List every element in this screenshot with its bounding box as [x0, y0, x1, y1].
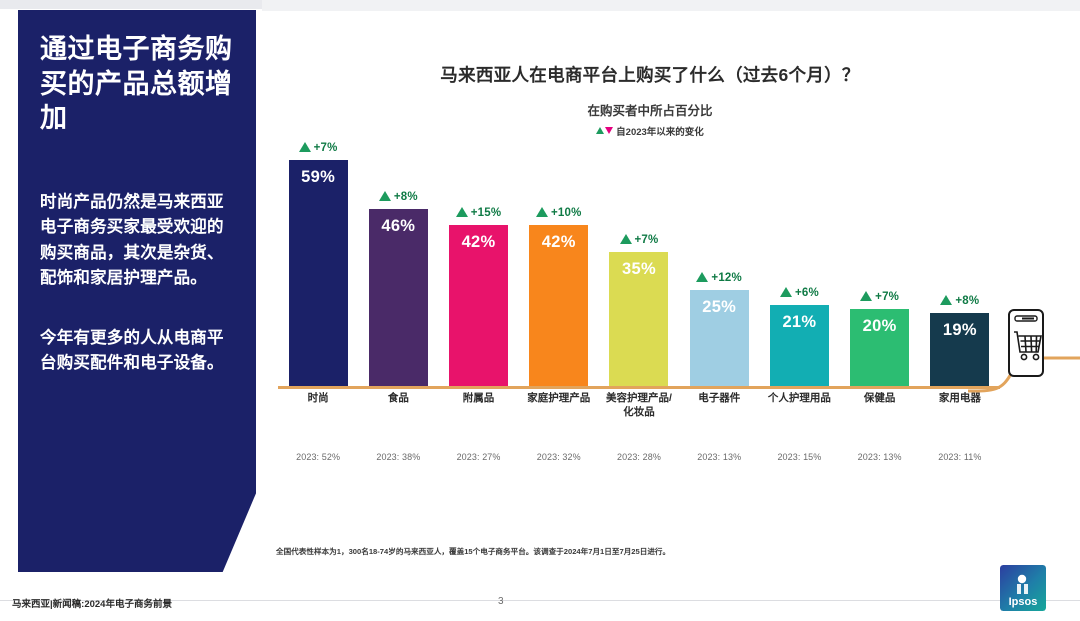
sidebar-title: 通过电子商务购买的产品总额增加	[40, 32, 234, 136]
bar-delta-label: +8%	[379, 191, 418, 203]
chart-footnote: 全国代表性样本为1，300名18-74岁的马来西亚人，覆盖15个电子商务平台。该…	[276, 546, 916, 557]
bar-value-label: 19%	[930, 321, 989, 340]
top-band-right	[262, 0, 1080, 11]
bar-slot[interactable]: +6%21%	[759, 140, 839, 388]
x-axis-label: 电子器件	[679, 392, 759, 419]
prior-year-label: 2023: 28%	[599, 452, 679, 462]
bar-delta-label: +6%	[780, 287, 819, 299]
bar-delta-value: +10%	[551, 207, 582, 219]
prior-year-label: 2023: 15%	[759, 452, 839, 462]
bar-value-label: 20%	[850, 317, 909, 336]
prior-year-label: 2023: 11%	[920, 452, 1000, 462]
sidebar-paragraph-1: 时尚产品仍然是马来西亚电子商务买家最受欢迎的购买商品，其次是杂货、配饰和家居护理…	[40, 190, 234, 292]
chart-legend-label: 自2023年以来的变化	[616, 127, 704, 138]
bar[interactable]: 59%	[289, 160, 348, 386]
triangle-up-icon	[536, 207, 548, 217]
x-axis-label: 时尚	[278, 392, 358, 419]
chart-plot-area: +7%59%+8%46%+15%42%+10%42%+7%35%+12%25%+…	[278, 140, 1000, 388]
x-axis-label: 食品	[358, 392, 438, 419]
bar-value-label: 59%	[289, 168, 348, 187]
triangle-up-icon	[780, 287, 792, 297]
x-axis-label: 家用电器	[920, 392, 1000, 419]
bar[interactable]: 46%	[369, 209, 428, 386]
triangle-up-icon	[940, 295, 952, 305]
prior-year-label: 2023: 52%	[278, 452, 358, 462]
mobile-shopping-icon	[1007, 308, 1045, 378]
ipsos-logo-text: Ipsos	[1009, 596, 1038, 608]
bar-series: +7%59%+8%46%+15%42%+10%42%+7%35%+12%25%+…	[278, 140, 1000, 388]
triangle-up-icon	[596, 127, 604, 134]
bar[interactable]: 42%	[529, 225, 588, 386]
bar[interactable]: 25%	[690, 290, 749, 386]
bar-value-label: 42%	[529, 233, 588, 252]
bar-delta-label: +7%	[299, 142, 338, 154]
prior-year-label: 2023: 13%	[679, 452, 759, 462]
chart-subtitle: 在购买者中所占百分比	[300, 100, 1000, 119]
chart-legend: 自2023年以来的变化	[300, 124, 1000, 138]
bar-delta-value: +6%	[795, 287, 819, 299]
footer-label: 马来西亚|新闻稿:2024年电子商务前景	[12, 596, 172, 610]
bar-slot[interactable]: +8%46%	[358, 140, 438, 388]
bar-delta-label: +7%	[860, 291, 899, 303]
triangle-up-icon	[456, 207, 468, 217]
triangle-down-icon	[605, 127, 613, 134]
triangle-up-icon	[860, 291, 872, 301]
bar-delta-value: +7%	[875, 291, 899, 303]
bar-value-label: 25%	[690, 298, 749, 317]
bar[interactable]: 20%	[850, 309, 909, 386]
bar-delta-value: +8%	[394, 191, 418, 203]
prior-year-label: 2023: 27%	[438, 452, 518, 462]
bar-delta-label: +10%	[536, 207, 582, 219]
x-axis-label: 保健品	[840, 392, 920, 419]
bar-slot[interactable]: +7%35%	[599, 140, 679, 388]
bar[interactable]: 35%	[609, 252, 668, 386]
x-axis-label: 美容护理产品/化妆品	[599, 392, 679, 419]
prior-year-row: 2023: 52%2023: 38%2023: 27%2023: 32%2023…	[278, 452, 1000, 462]
bar-delta-value: +12%	[711, 272, 742, 284]
bar-delta-label: +7%	[620, 234, 659, 246]
bar-delta-label: +12%	[696, 272, 742, 284]
bar-value-label: 35%	[609, 260, 668, 279]
prior-year-label: 2023: 38%	[358, 452, 438, 462]
prior-year-label: 2023: 13%	[840, 452, 920, 462]
bar-delta-label: +8%	[940, 295, 979, 307]
bar-delta-value: +15%	[471, 207, 502, 219]
x-axis-label: 个人护理用品	[759, 392, 839, 419]
x-axis-label: 附属品	[438, 392, 518, 419]
bar-slot[interactable]: +7%20%	[840, 140, 920, 388]
sidebar-paragraph-2: 今年有更多的人从电商平台购买配件和电子设备。	[40, 326, 234, 377]
triangle-up-icon	[379, 191, 391, 201]
bar-delta-value: +7%	[314, 142, 338, 154]
triangle-up-icon	[696, 272, 708, 282]
bar-value-label: 21%	[770, 313, 829, 332]
sidebar-panel: 通过电子商务购买的产品总额增加 时尚产品仍然是马来西亚电子商务买家最受欢迎的购买…	[18, 10, 256, 572]
bar[interactable]: 42%	[449, 225, 508, 386]
bar-delta-value: +7%	[635, 234, 659, 246]
bar-slot[interactable]: +15%42%	[438, 140, 518, 388]
chart-title: 马来西亚人在电商平台上购买了什么（过去6个月）？	[300, 62, 1000, 87]
x-axis-labels: 时尚食品附属品家庭护理产品美容护理产品/化妆品电子器件个人护理用品保健品家用电器	[278, 392, 1000, 419]
bar-value-label: 42%	[449, 233, 508, 252]
bar-slot[interactable]: +7%59%	[278, 140, 358, 388]
bar-slot[interactable]: +10%42%	[519, 140, 599, 388]
ipsos-logo: Ipsos	[1000, 565, 1046, 611]
triangle-up-icon	[620, 234, 632, 244]
page-number: 3	[498, 596, 504, 607]
bar-delta-label: +15%	[456, 207, 502, 219]
slide-canvas: 通过电子商务购买的产品总额增加 时尚产品仍然是马来西亚电子商务买家最受欢迎的购买…	[0, 0, 1080, 621]
bar[interactable]: 21%	[770, 305, 829, 386]
prior-year-label: 2023: 32%	[519, 452, 599, 462]
axis-baseline	[278, 386, 1000, 389]
bar-delta-value: +8%	[955, 295, 979, 307]
bar-value-label: 46%	[369, 217, 428, 236]
triangle-up-icon	[299, 142, 311, 152]
x-axis-label: 家庭护理产品	[519, 392, 599, 419]
bar-slot[interactable]: +12%25%	[679, 140, 759, 388]
